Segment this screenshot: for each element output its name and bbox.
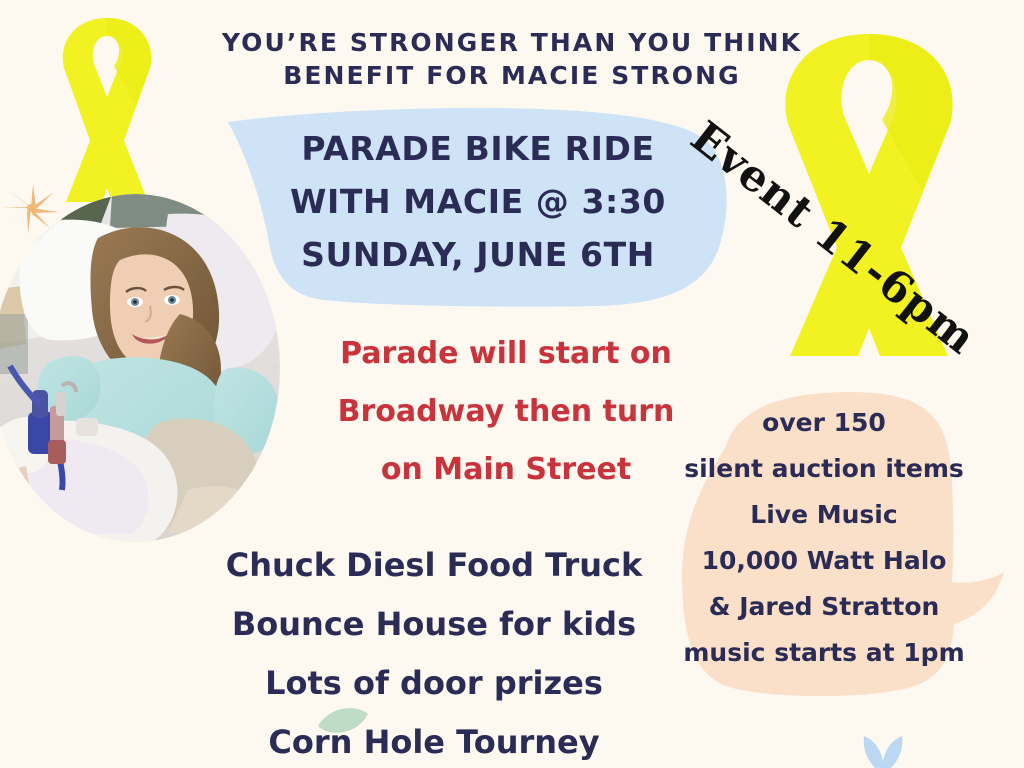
- activity-item: Corn Hole Tourney: [200, 713, 668, 768]
- route-line-2: Broadway then turn: [300, 383, 712, 441]
- route-line-1: Parade will start on: [300, 325, 712, 383]
- headline-line-1: YOU’RE STRONGER THAN YOU THINK: [180, 26, 844, 59]
- parade-line-3: SUNDAY, JUNE 6TH: [258, 228, 698, 281]
- activity-item: Chuck Diesl Food Truck: [200, 536, 668, 595]
- parade-line-1: PARADE BIKE RIDE: [258, 122, 698, 175]
- attractions-bubble-text: over 150 silent auction items Live Music…: [664, 400, 984, 676]
- awareness-ribbon-left-icon: [52, 6, 162, 214]
- route-line-3: on Main Street: [300, 441, 712, 499]
- attraction-line: Live Music: [664, 492, 984, 538]
- attraction-line: music starts at 1pm: [664, 630, 984, 676]
- parade-line-2: WITH MACIE @ 3:30: [258, 175, 698, 228]
- page-title: YOU’RE STRONGER THAN YOU THINK BENEFIT F…: [180, 26, 844, 92]
- parade-bubble-text: PARADE BIKE RIDE WITH MACIE @ 3:30 SUNDA…: [258, 122, 698, 281]
- attraction-line: 10,000 Watt Halo: [664, 538, 984, 584]
- poster-canvas: YOU’RE STRONGER THAN YOU THINK BENEFIT F…: [0, 0, 1024, 768]
- leaf-bottom-icon: [852, 734, 914, 768]
- attraction-line: over 150: [664, 400, 984, 446]
- activities-list: Chuck Diesl Food Truck Bounce House for …: [200, 536, 668, 768]
- activity-item: Bounce House for kids: [200, 595, 668, 654]
- macie-photo: [0, 194, 280, 542]
- headline-line-2: BENEFIT FOR MACIE STRONG: [180, 59, 844, 92]
- attraction-line: & Jared Stratton: [664, 584, 984, 630]
- attraction-line: silent auction items: [664, 446, 984, 492]
- parade-route-text: Parade will start on Broadway then turn …: [300, 325, 712, 499]
- activity-item: Lots of door prizes: [200, 654, 668, 713]
